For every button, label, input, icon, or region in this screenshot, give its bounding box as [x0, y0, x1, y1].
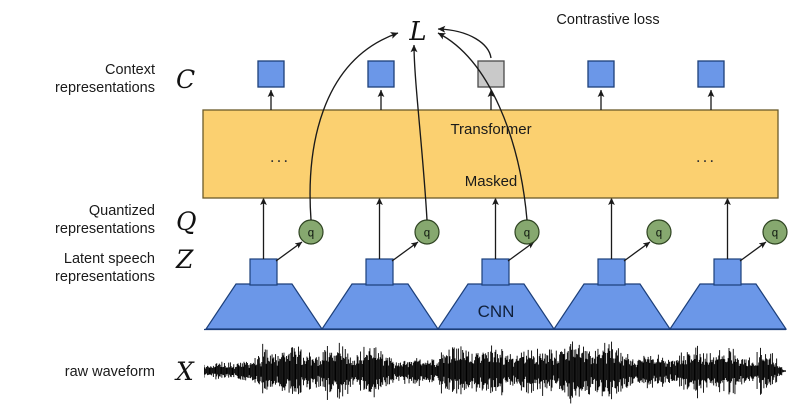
quantizer-node: q — [763, 220, 787, 244]
row-symbol-raw: X — [174, 357, 195, 386]
cnn-label: CNN — [478, 302, 515, 321]
row-label-quantized: Quantized representations Q — [55, 203, 196, 237]
quantizer-label: q — [308, 228, 314, 240]
quantizer-node: q — [415, 220, 439, 244]
context-representation-box — [588, 61, 614, 87]
masked-label: Masked — [465, 173, 518, 190]
row-label-latent-line2: representations — [55, 269, 155, 285]
row-label-quantized-line1: Quantized — [89, 203, 155, 219]
quantizer-label: q — [524, 228, 530, 240]
cnn-block — [554, 284, 670, 329]
transformer-left-ellipsis: ... — [270, 147, 290, 166]
row-label-quantized-line2: representations — [55, 221, 155, 237]
quantizer-label: q — [424, 228, 430, 240]
figure-canvas: Context representations C Quantized repr… — [0, 0, 800, 420]
row-label-raw-line1: raw waveform — [65, 364, 155, 380]
transformer-label: Transformer — [450, 121, 531, 138]
transformer-right-ellipsis: ... — [696, 147, 716, 166]
context-representation-box — [258, 61, 284, 87]
row-label-latent: Latent speech representations Z — [55, 245, 194, 285]
quantizer-node: q — [515, 220, 539, 244]
row-symbol-context: C — [176, 65, 195, 94]
row-symbol-quantized: Q — [176, 207, 197, 236]
latent-representation-box — [714, 259, 741, 285]
row-symbol-latent: Z — [175, 245, 194, 274]
context-representation-box — [698, 61, 724, 87]
wav2vec-architecture-diagram: Context representations C Quantized repr… — [0, 0, 800, 420]
latent-to-quantizer-arrows — [276, 242, 766, 261]
transformer-block: Transformer Masked ... ... — [203, 110, 778, 198]
quantizer-label: q — [772, 228, 778, 240]
latent-representation-box — [482, 259, 509, 285]
cnn-encoder: CNN — [204, 284, 786, 330]
transformer-to-context-arrows — [271, 90, 711, 110]
row-label-latent-line1: Latent speech — [64, 251, 155, 267]
row-label-raw-waveform: raw waveform X — [65, 357, 195, 386]
cnn-block — [206, 284, 322, 329]
cnn-block — [670, 284, 786, 329]
row-label-context-line2: representations — [55, 80, 155, 96]
raw-waveform-plot — [204, 338, 788, 404]
row-label-context-line1: Context — [105, 62, 155, 78]
context-representation-box — [368, 61, 394, 87]
latent-representation-box — [250, 259, 277, 285]
cnn-block — [322, 284, 438, 329]
latent-representation-box — [366, 259, 393, 285]
quantizer-node: q — [647, 220, 671, 244]
contrastive-loss-label: Contrastive loss — [556, 12, 659, 28]
loss-symbol: L — [408, 17, 426, 47]
latent-representation-box — [598, 259, 625, 285]
quantizer-node: q — [299, 220, 323, 244]
row-label-context: Context representations C — [55, 62, 195, 96]
quantizer-label: q — [656, 228, 662, 240]
